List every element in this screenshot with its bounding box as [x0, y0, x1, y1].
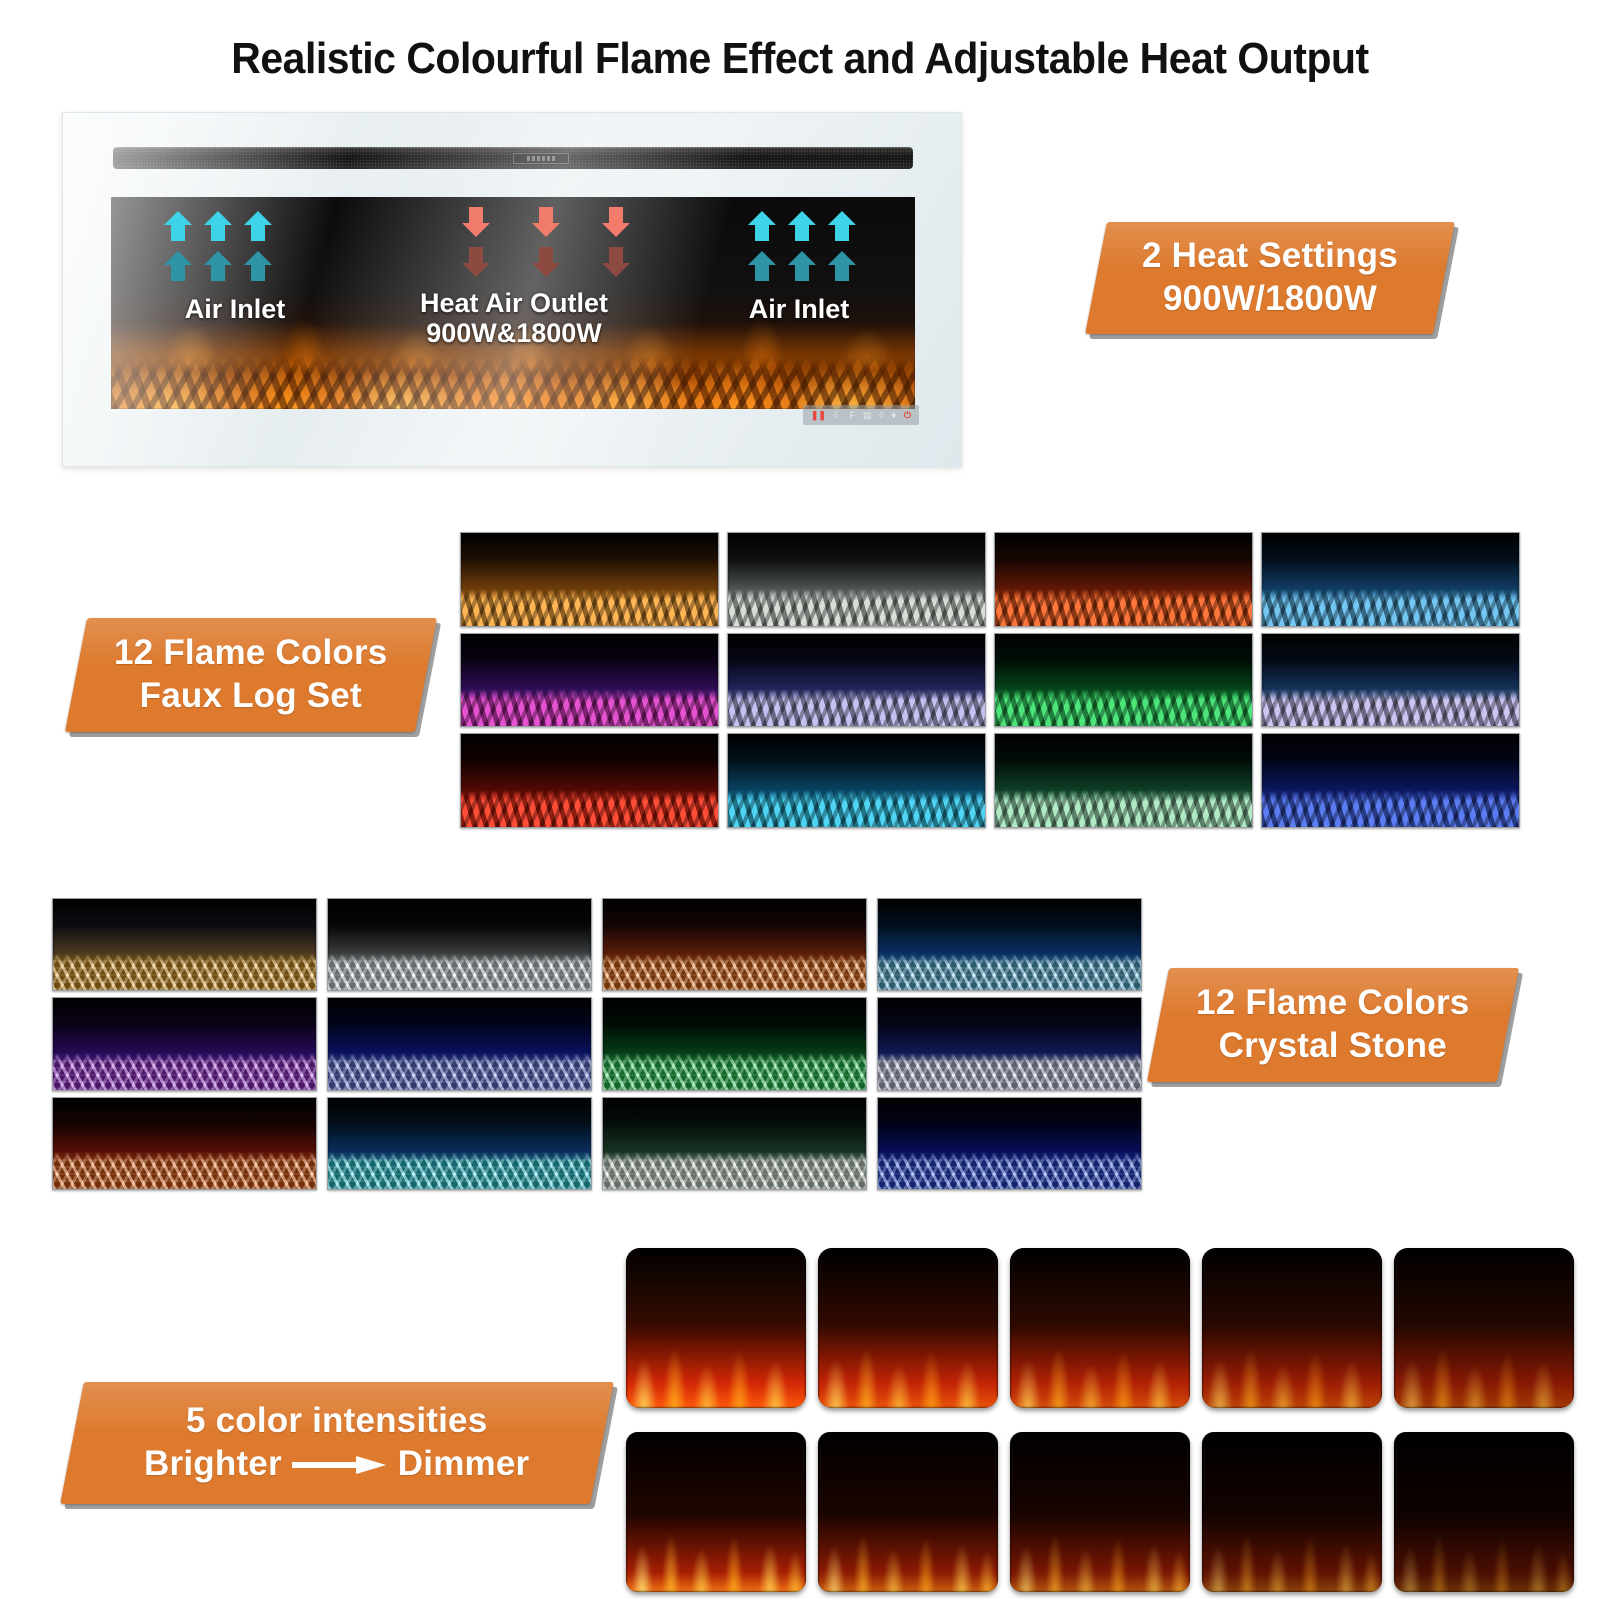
page-title: Realistic Colourful Flame Effect and Adj… [56, 34, 1544, 84]
badge-brighter-label: Brighter [144, 1443, 282, 1486]
intensity-flame [1202, 1432, 1382, 1592]
intensity-flame [1010, 1432, 1190, 1592]
intensity-tall-row [626, 1432, 1574, 1592]
badge-flame-colors-crystal: 12 Flame Colors Crystal Stone [1147, 968, 1519, 1082]
badge-heat-settings: 2 Heat Settings 900W/1800W [1085, 222, 1455, 334]
intensity-flame [1010, 1248, 1190, 1408]
tile-crystal-deep-blue [877, 1097, 1142, 1190]
badge-flame-colors-crystal-line2: Crystal Stone [1196, 1025, 1469, 1068]
tile-media-crystal [328, 1152, 591, 1189]
fahrenheit-icon[interactable]: F [850, 411, 856, 420]
air-inlet-arrows-right [747, 209, 857, 283]
tile-crystal-purple [52, 997, 317, 1090]
tile-crystal-green [602, 997, 867, 1090]
tile-log-deep-red [460, 733, 719, 828]
badge-flame-colors-log-line1: 12 Flame Colors [114, 632, 387, 675]
down-arrow-icon [531, 205, 561, 239]
intensity-flame [1394, 1248, 1574, 1408]
tile-media-log [461, 589, 718, 626]
badge-flame-colors-log-line2: Faux Log Set [114, 675, 387, 718]
display-icon[interactable]: ▤ [863, 411, 872, 420]
intensity-2 [818, 1248, 998, 1408]
badge-flame-colors-crystal-line1: 12 Flame Colors [1196, 982, 1469, 1025]
tile-media-log [1262, 790, 1519, 827]
intensity-6 [626, 1432, 806, 1592]
tile-media-log [461, 689, 718, 726]
tile-log-purple [460, 633, 719, 728]
top-vent-bar [113, 147, 913, 169]
flame-icon[interactable]: ◊ [879, 411, 883, 420]
tile-log-blue [1261, 733, 1520, 828]
flame-screen: Air Inlet Heat Air Outlet 900W&1800W Air… [111, 197, 915, 409]
intensity-wide-row [626, 1248, 1574, 1408]
tile-media-crystal [878, 954, 1141, 991]
down-arrow-icon [461, 245, 491, 279]
tile-media-log [995, 790, 1252, 827]
tile-media-log [1262, 589, 1519, 626]
intensity-9 [1202, 1432, 1382, 1592]
faux-log-color-grid [460, 532, 1520, 828]
heat-outlet-label-line2: 900W&1800W [399, 319, 629, 347]
infographic-page: Realistic Colourful Flame Effect and Adj… [0, 0, 1600, 1600]
up-arrow-icon [827, 249, 857, 283]
intensity-flame [626, 1248, 806, 1408]
intensity-8 [1010, 1432, 1190, 1592]
tile-media-crystal [603, 1053, 866, 1090]
tile-media-crystal [878, 1152, 1141, 1189]
tile-media-log [728, 689, 985, 726]
up-arrow-icon [203, 209, 233, 243]
tile-log-sky-blue [1261, 532, 1520, 627]
tile-media-crystal [53, 954, 316, 991]
down-arrow-icon [601, 245, 631, 279]
tile-crystal-aqua [327, 1097, 592, 1190]
intensity-flame [818, 1432, 998, 1592]
tile-media-log [1262, 689, 1519, 726]
intensity-flame [818, 1248, 998, 1408]
tile-crystal-clear [327, 898, 592, 991]
heat-outlet-arrows [461, 205, 631, 279]
tile-media-crystal [603, 954, 866, 991]
tile-media-crystal [878, 1053, 1141, 1090]
tile-media-log [995, 589, 1252, 626]
up-arrow-icon [827, 209, 857, 243]
up-arrow-icon [243, 249, 273, 283]
badge-heat-settings-line2: 900W/1800W [1142, 278, 1398, 321]
tile-log-violet-blue [727, 633, 986, 728]
air-inlet-label-left: Air Inlet [155, 295, 315, 323]
power-icon[interactable]: ⏻ [904, 411, 911, 420]
intensity-3 [1010, 1248, 1190, 1408]
power-pause-icon[interactable]: ❚❚ [811, 411, 826, 420]
up-arrow-icon [163, 249, 193, 283]
badge-dimmer-label: Dimmer [398, 1443, 530, 1486]
down-arrow-icon [601, 205, 631, 239]
badge-heat-settings-line1: 2 Heat Settings [1142, 235, 1398, 278]
fireplace-unit-diagram: Air Inlet Heat Air Outlet 900W&1800W Air… [62, 112, 962, 467]
tile-media-crystal [53, 1053, 316, 1090]
tile-log-green-teal [994, 733, 1253, 828]
intensity-flame [626, 1432, 806, 1592]
tile-crystal-violet [877, 997, 1142, 1090]
tile-media-crystal [328, 954, 591, 991]
crystal-stone-color-grid [52, 898, 1142, 1190]
tile-log-cyan [727, 733, 986, 828]
up-arrow-icon [243, 209, 273, 243]
control-panel[interactable]: ❚❚ ☾ F ▤ ◊ ♦ ⏻ [803, 405, 919, 425]
down-arrow-icon [461, 205, 491, 239]
tile-log-cyan-violet [1261, 633, 1520, 728]
tile-crystal-cyan-blue [877, 898, 1142, 991]
tile-media-log [728, 790, 985, 827]
tile-log-white [727, 532, 986, 627]
up-arrow-icon [747, 249, 777, 283]
tile-media-crystal [603, 1152, 866, 1189]
badge-color-intensities: 5 color intensities Brighter Dimmer [60, 1382, 614, 1504]
up-arrow-icon [747, 209, 777, 243]
up-arrow-icon [787, 249, 817, 283]
intensity-flame [1202, 1248, 1382, 1408]
intensity-5 [1394, 1248, 1574, 1408]
tile-log-orange [460, 532, 719, 627]
tile-media-log [728, 589, 985, 626]
air-inlet-label-right: Air Inlet [719, 295, 879, 323]
heat-outlet-label-line1: Heat Air Outlet [399, 289, 629, 317]
intensity-10 [1394, 1432, 1574, 1592]
right-arrow-icon [292, 1456, 388, 1472]
tile-log-green [994, 633, 1253, 728]
faux-logs [111, 355, 915, 409]
tile-crystal-blue [327, 997, 592, 1090]
tile-crystal-amber [52, 898, 317, 991]
badge-flame-colors-log: 12 Flame Colors Faux Log Set [65, 618, 437, 732]
tile-log-red-orange [994, 532, 1253, 627]
intensity-7 [818, 1432, 998, 1592]
down-arrow-icon [531, 245, 561, 279]
air-inlet-arrows-left [163, 209, 273, 283]
up-arrow-icon [163, 209, 193, 243]
intensity-4 [1202, 1248, 1382, 1408]
tile-media-crystal [53, 1152, 316, 1189]
tile-media-crystal [328, 1053, 591, 1090]
thermometer-icon[interactable]: ♦ [892, 411, 897, 420]
moon-icon[interactable]: ☾ [834, 411, 842, 420]
tile-crystal-red [52, 1097, 317, 1190]
intensity-flame [1394, 1432, 1574, 1592]
vent-display [513, 153, 569, 164]
tile-crystal-orange-red [602, 898, 867, 991]
up-arrow-icon [787, 209, 817, 243]
tile-media-log [461, 790, 718, 827]
badge-color-intensities-line1: 5 color intensities [144, 1400, 529, 1443]
intensity-1 [626, 1248, 806, 1408]
up-arrow-icon [203, 249, 233, 283]
tile-crystal-pale-green [602, 1097, 867, 1190]
tile-media-log [995, 689, 1252, 726]
